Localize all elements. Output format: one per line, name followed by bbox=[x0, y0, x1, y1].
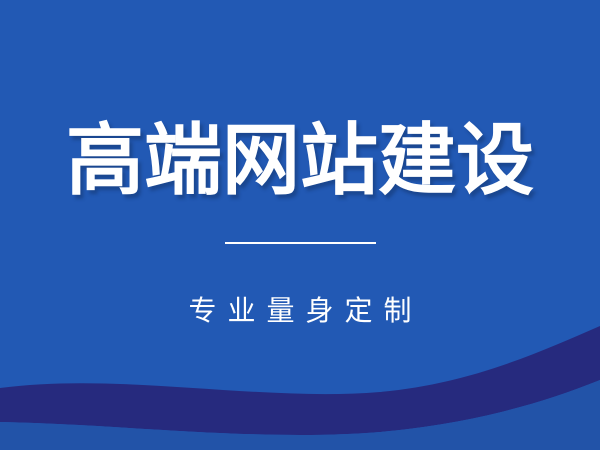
subtitle-text: 专业量身定制 bbox=[0, 290, 600, 332]
banner-content: 高端网站建设 专业量身定制 bbox=[0, 0, 600, 450]
promo-banner: 高端网站建设 专业量身定制 bbox=[0, 0, 600, 450]
headline-text: 高端网站建设 bbox=[0, 112, 600, 208]
divider-rule bbox=[225, 242, 376, 244]
